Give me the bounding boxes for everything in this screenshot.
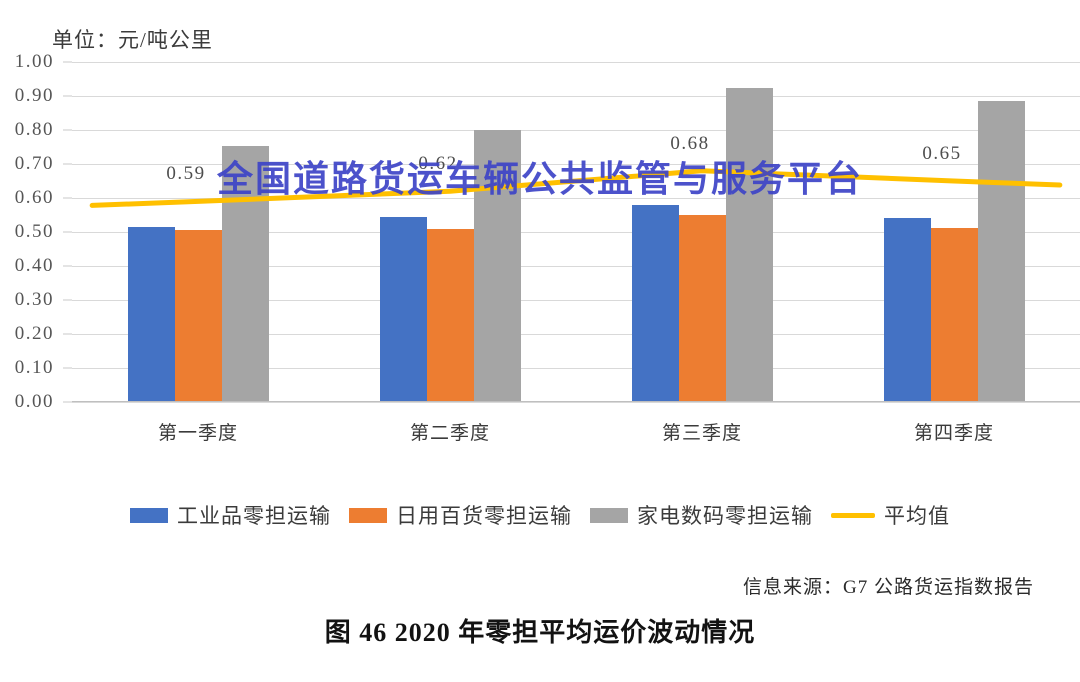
- bar: [474, 130, 521, 402]
- legend-label: 家电数码零担运输: [637, 500, 813, 530]
- bar: [679, 215, 726, 402]
- y-axis-tick-mark: [63, 130, 72, 131]
- bar: [726, 88, 773, 403]
- bar: [884, 218, 931, 402]
- y-axis-tick-label: 0.40: [15, 255, 54, 277]
- y-axis-tick-mark: [63, 96, 72, 97]
- y-axis-tick-mark: [63, 368, 72, 369]
- y-axis-tick-label: 0.00: [15, 391, 54, 413]
- gridline: [72, 402, 1080, 403]
- x-axis-tick-label: 第一季度: [158, 418, 238, 445]
- y-axis-tick-mark: [63, 402, 72, 403]
- y-axis-tick-mark: [63, 334, 72, 335]
- bar: [222, 146, 269, 402]
- y-axis-tick-mark: [63, 266, 72, 267]
- bar-group: [380, 62, 521, 402]
- x-axis-labels: 第一季度第二季度第三季度第四季度: [72, 412, 1080, 452]
- x-axis-tick-label: 第二季度: [410, 418, 490, 445]
- bar-group: [128, 62, 269, 402]
- bar: [632, 205, 679, 402]
- legend-label: 平均值: [884, 500, 950, 530]
- average-data-label: 0.62: [418, 153, 457, 175]
- y-axis-tick-label: 0.60: [15, 187, 54, 209]
- y-axis-tick-label: 0.20: [15, 323, 54, 345]
- legend-label: 日用百货零担运输: [396, 500, 572, 530]
- y-axis-tick-label: 1.00: [15, 51, 54, 73]
- legend-item[interactable]: 平均值: [831, 500, 950, 530]
- bar: [175, 230, 222, 402]
- legend-item[interactable]: 家电数码零担运输: [590, 500, 813, 530]
- bar: [978, 101, 1025, 402]
- legend: 工业品零担运输日用百货零担运输家电数码零担运输平均值: [0, 500, 1080, 530]
- average-data-label: 0.59: [166, 163, 205, 185]
- bar: [427, 229, 474, 402]
- average-data-label: 0.65: [922, 143, 961, 165]
- chart-page: 单位：元/吨公里 0.000.100.200.300.400.500.600.7…: [0, 0, 1080, 682]
- legend-color-swatch: [349, 508, 387, 523]
- x-axis-tick-label: 第四季度: [914, 418, 994, 445]
- average-data-label: 0.68: [670, 133, 709, 155]
- y-axis-tick-mark: [63, 232, 72, 233]
- legend-item[interactable]: 工业品零担运输: [130, 500, 331, 530]
- x-axis-tick-label: 第三季度: [662, 418, 742, 445]
- y-axis-tick-mark: [63, 300, 72, 301]
- legend-label: 工业品零担运输: [177, 500, 331, 530]
- y-axis: 0.000.100.200.300.400.500.600.700.800.90…: [0, 62, 72, 402]
- y-axis-tick-mark: [63, 164, 72, 165]
- bar-group: [632, 62, 773, 402]
- unit-label: 单位：元/吨公里: [52, 24, 213, 54]
- figure-caption: 图 46 2020 年零担平均运价波动情况: [0, 612, 1080, 649]
- legend-item[interactable]: 日用百货零担运输: [349, 500, 572, 530]
- y-axis-tick-label: 0.30: [15, 289, 54, 311]
- y-axis-tick-label: 0.10: [15, 357, 54, 379]
- x-axis-line: [72, 401, 1080, 402]
- source-note: 信息来源：G7 公路货运指数报告: [743, 572, 1034, 599]
- bar-group: [884, 62, 1025, 402]
- y-axis-tick-label: 0.90: [15, 85, 54, 107]
- bar: [128, 227, 175, 402]
- legend-color-swatch: [130, 508, 168, 523]
- legend-color-swatch: [590, 508, 628, 523]
- legend-line-swatch: [831, 513, 875, 518]
- y-axis-tick-mark: [63, 198, 72, 199]
- y-axis-tick-label: 0.70: [15, 153, 54, 175]
- y-axis-tick-mark: [63, 62, 72, 63]
- plot-area: 0.590.620.680.65: [72, 62, 1080, 402]
- bar: [380, 217, 427, 402]
- y-axis-tick-label: 0.50: [15, 221, 54, 243]
- y-axis-tick-label: 0.80: [15, 119, 54, 141]
- bar: [931, 228, 978, 402]
